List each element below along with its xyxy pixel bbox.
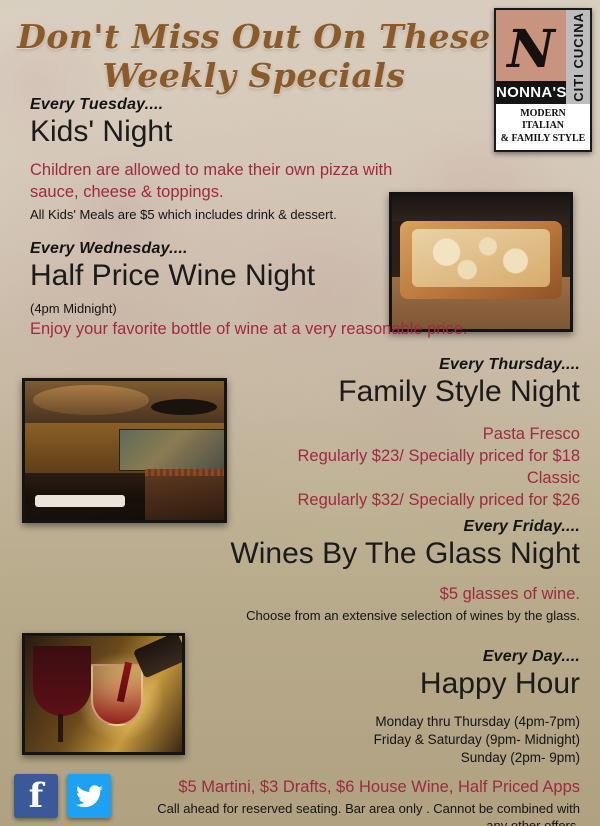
wine-photo-left-stem: [58, 714, 63, 742]
wednesday-headline: Half Price Wine Night: [30, 259, 390, 293]
special-thursday: Every Thursday.... Family Style Night Pa…: [160, 356, 580, 512]
thursday-item-2-price: Regularly $32/ Specially priced for $26: [160, 489, 580, 511]
logo-sidebar: CITI CUCINA: [566, 10, 590, 104]
thursday-item-1-price: Regularly $23/ Specially priced for $18: [160, 445, 580, 467]
logo-name: NONNA'S: [496, 81, 566, 104]
page-title: Don't Miss Out On These Weekly Specials: [0, 18, 508, 96]
special-wednesday: Every Wednesday.... Half Price Wine Nigh…: [30, 240, 390, 340]
tuesday-description: Children are allowed to make their own p…: [30, 159, 395, 204]
special-tuesday: Every Tuesday.... Kids' Night Children a…: [30, 96, 400, 224]
everyday-deals: $5 Martini, $3 Drafts, $6 House Wine, Ha…: [140, 776, 580, 798]
pizza-photo-oven: [392, 195, 570, 221]
wednesday-description: Enjoy your favorite bottle of wine at a …: [30, 318, 390, 340]
tuesday-eyebrow: Every Tuesday....: [30, 96, 400, 114]
logo-side-text: CITI CUCINA: [571, 12, 586, 102]
thursday-item-2-name: Classic: [160, 467, 580, 489]
title-line-1: Don't Miss Out On These: [0, 18, 508, 57]
social-links: f: [14, 774, 111, 818]
interior-photo-table: [35, 495, 125, 507]
everyday-hours-1: Monday thru Thursday (4pm-7pm): [140, 713, 580, 731]
friday-eyebrow: Every Friday....: [150, 518, 580, 536]
everyday-disclaimer-1: Call ahead for reserved seating. Bar are…: [140, 800, 580, 818]
thursday-eyebrow: Every Thursday....: [160, 356, 580, 374]
everyday-headline: Happy Hour: [140, 667, 580, 701]
pizza-photo: [389, 192, 573, 332]
weekly-specials-flyer: Don't Miss Out On These Weekly Specials …: [0, 0, 600, 826]
pizza-photo-cheese: [412, 229, 550, 287]
special-friday: Every Friday.... Wines By The Glass Nigh…: [150, 518, 580, 624]
everyday-eyebrow: Every Day....: [140, 648, 580, 666]
special-everyday: Every Day.... Happy Hour Monday thru Thu…: [140, 648, 580, 826]
wine-photo-left-glass: [33, 646, 91, 716]
facebook-icon[interactable]: f: [14, 774, 58, 818]
logo-upper: N NONNA'S CITI CUCINA: [496, 10, 590, 104]
thursday-item-1-name: Pasta Fresco: [160, 423, 580, 445]
logo-tagline-line-1: MODERN ITALIAN: [498, 108, 588, 133]
wednesday-eyebrow: Every Wednesday....: [30, 240, 390, 258]
restaurant-logo: N NONNA'S CITI CUCINA MODERN ITALIAN & F…: [494, 8, 592, 152]
interior-photo-ceiling-disc: [33, 385, 149, 415]
logo-tagline: MODERN ITALIAN & FAMILY STYLE: [496, 104, 590, 151]
thursday-headline: Family Style Night: [160, 375, 580, 409]
title-line-2: Weekly Specials: [0, 57, 508, 96]
logo-monogram-block: N NONNA'S: [496, 10, 566, 104]
everyday-hours-3: Sunday (2pm- 9pm): [140, 749, 580, 767]
everyday-hours-2: Friday & Saturday (9pm- Midnight): [140, 731, 580, 749]
wednesday-hours: (4pm Midnight): [30, 301, 390, 316]
tuesday-headline: Kids' Night: [30, 115, 400, 149]
facebook-glyph: f: [29, 779, 44, 813]
tuesday-note: All Kids' Meals are $5 which includes dr…: [30, 206, 400, 224]
logo-monogram: N: [507, 24, 555, 76]
twitter-icon[interactable]: [67, 774, 111, 818]
twitter-bird-glyph: [76, 785, 103, 808]
friday-price: $5 glasses of wine.: [150, 583, 580, 605]
friday-headline: Wines By The Glass Night: [150, 537, 580, 571]
friday-note: Choose from an extensive selection of wi…: [150, 607, 580, 625]
everyday-disclaimer-2: any other offers.: [140, 817, 580, 826]
logo-tagline-line-2: & FAMILY STYLE: [498, 133, 588, 146]
